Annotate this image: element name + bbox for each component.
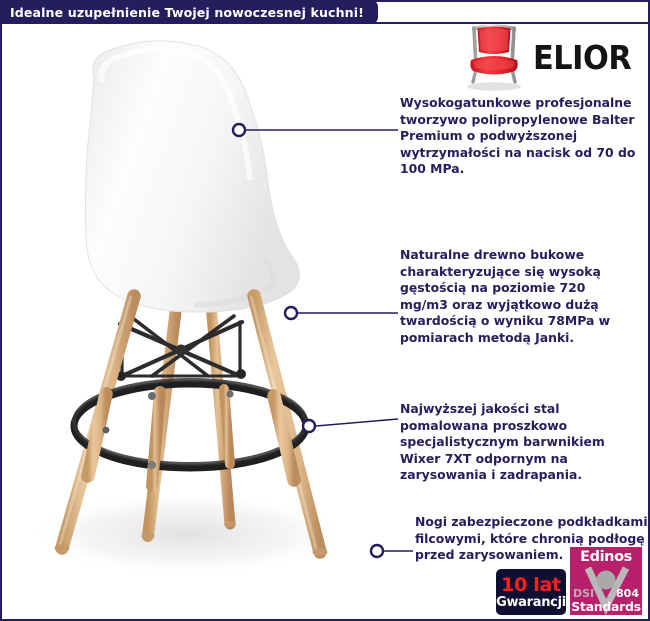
- edinos-standards-label: Standards: [570, 599, 642, 614]
- warranty-label: Gwarancji: [496, 596, 566, 609]
- warranty-years: 10 lat: [501, 576, 561, 595]
- callout-text-steel: Najwyższej jakości stal pomalowana prosz…: [400, 401, 636, 484]
- header-banner-text: Idealne uzupełnienie Twojej nowoczesnej …: [10, 5, 364, 20]
- brand-logo: ELIOR: [474, 20, 640, 94]
- callout-text-material: Wysokogatunkowe profesjonalne tworzywo p…: [400, 95, 636, 178]
- header-banner: Idealne uzupełnienie Twojej nowoczesnej …: [0, 0, 378, 24]
- edinos-standards-badge: Edinos DSI 804 Standards: [570, 547, 642, 615]
- product-infographic: Idealne uzupełnienie Twojej nowoczesnej …: [0, 0, 650, 621]
- brand-name: ELIOR: [533, 41, 631, 74]
- callout-text-wood: Naturalne drewno bukowe charakteryzujące…: [400, 247, 636, 346]
- warranty-badge: 10 lat Gwarancji: [496, 569, 566, 615]
- red-chair-icon: [461, 22, 527, 92]
- badge-group: 10 lat Gwarancji Edinos DSI 804 Standard…: [496, 547, 642, 615]
- product-image: [2, 24, 402, 604]
